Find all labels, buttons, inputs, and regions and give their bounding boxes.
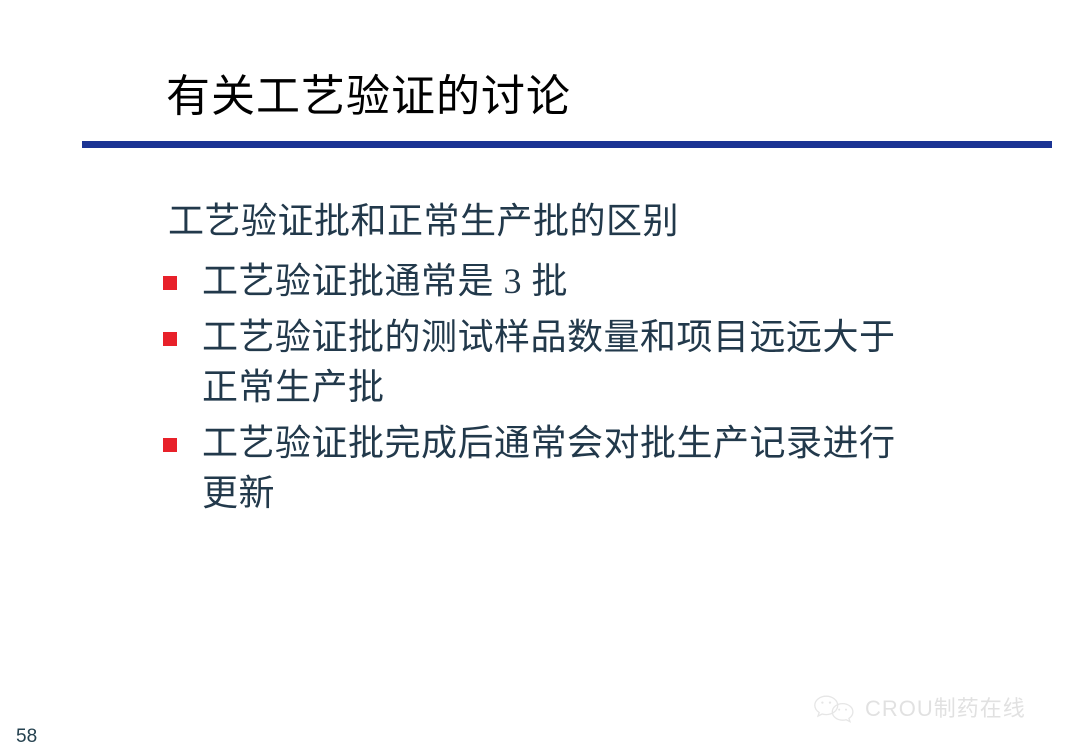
list-item-line: 更新 bbox=[202, 468, 1040, 518]
list-item-line: 正常生产批 bbox=[202, 362, 1040, 412]
bullet-list: 工艺验证批通常是 3 批 工艺验证批的测试样品数量和项目远远大于 正常生产批 工… bbox=[160, 256, 1040, 518]
wechat-icon bbox=[812, 694, 856, 724]
list-item: 工艺验证批完成后通常会对批生产记录进行 更新 bbox=[160, 418, 1040, 518]
list-item-line: 工艺验证批完成后通常会对批生产记录进行 bbox=[202, 418, 1040, 468]
watermark: CROU制药在线 bbox=[812, 694, 1026, 724]
list-item-text: 工艺验证批完成后通常会对批生产记录进行 更新 bbox=[202, 418, 1040, 518]
title-divider bbox=[82, 141, 1052, 148]
list-item: 工艺验证批的测试样品数量和项目远远大于 正常生产批 bbox=[160, 312, 1040, 412]
list-item-text: 工艺验证批通常是 3 批 bbox=[202, 256, 1040, 306]
list-item-line: 工艺验证批的测试样品数量和项目远远大于 bbox=[202, 312, 1040, 362]
page-title: 有关工艺验证的讨论 bbox=[166, 66, 571, 128]
list-item-line: 工艺验证批通常是 3 批 bbox=[202, 256, 1040, 306]
square-bullet-icon bbox=[163, 276, 177, 290]
list-item: 工艺验证批通常是 3 批 bbox=[160, 256, 1040, 306]
square-bullet-icon bbox=[163, 332, 177, 346]
slide-body: 工艺验证批和正常生产批的区别 工艺验证批通常是 3 批 工艺验证批的测试样品数量… bbox=[160, 196, 1040, 524]
page-number: 58 bbox=[16, 726, 37, 748]
body-lead-line: 工艺验证批和正常生产批的区别 bbox=[168, 196, 1040, 246]
list-item-text: 工艺验证批的测试样品数量和项目远远大于 正常生产批 bbox=[202, 312, 1040, 412]
watermark-label: CROU制药在线 bbox=[865, 696, 1026, 722]
square-bullet-icon bbox=[163, 438, 177, 452]
slide-canvas: 有关工艺验证的讨论 工艺验证批和正常生产批的区别 工艺验证批通常是 3 批 工艺… bbox=[0, 0, 1080, 756]
